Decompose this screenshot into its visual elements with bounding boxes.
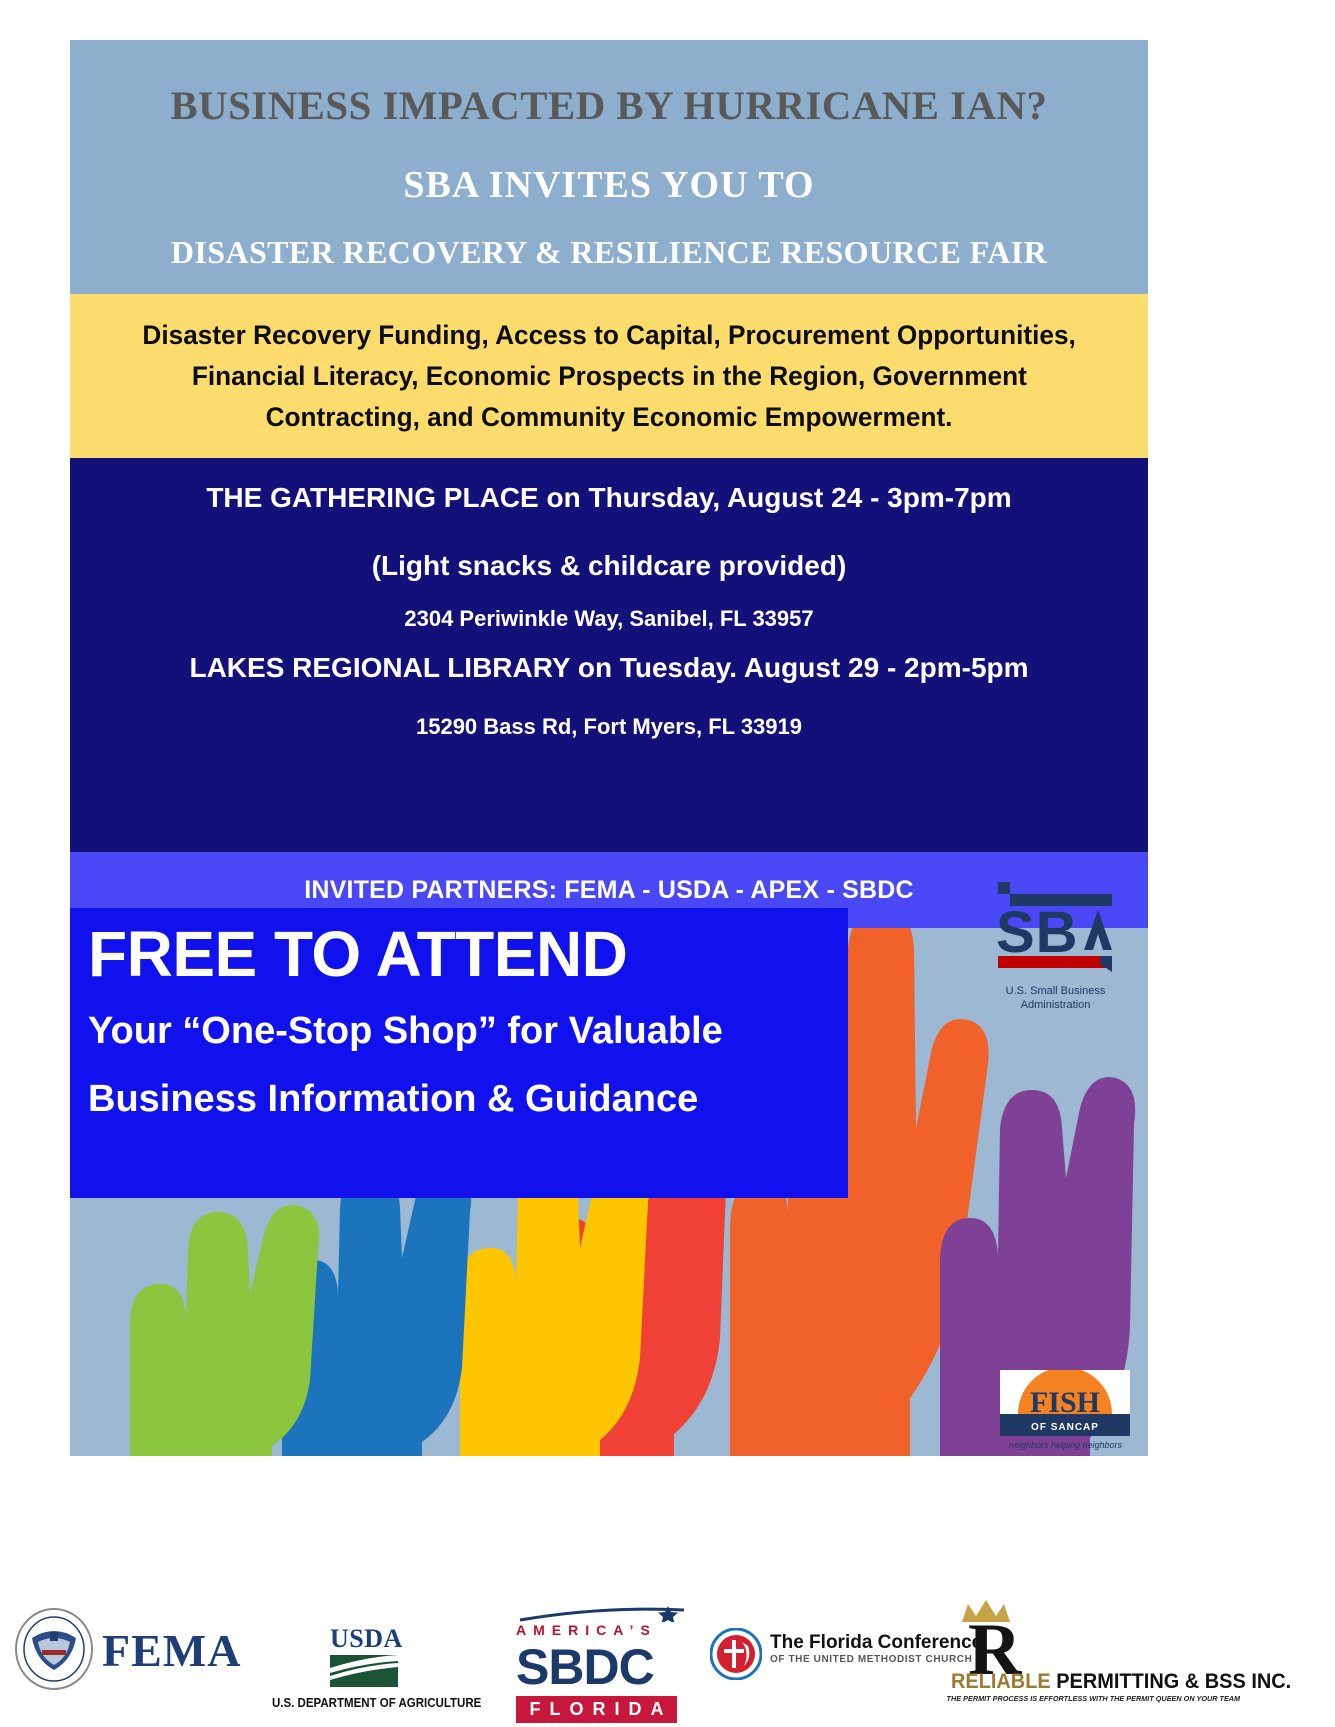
event-2-address: 15290 Bass Rd, Fort Myers, FL 33919 [70, 714, 1148, 740]
sponsor-logo-strip: FEMA USDA U.S. DEPARTMENT OF AGRICULTURE… [0, 1600, 1335, 1727]
sbdc-americas-text: AMERICA’S [516, 1622, 677, 1638]
fema-wordmark: FEMA [102, 1624, 241, 1677]
invited-partners-text: INVITED PARTNERS: FEMA - USDA - APEX - S… [304, 876, 914, 905]
united-methodist-cross-flame-icon [710, 1628, 762, 1680]
event-1-address: 2304 Periwinkle Way, Sanibel, FL 33957 [70, 606, 1148, 632]
sba-logo-caption: U.S. Small Business Administration [978, 985, 1133, 1013]
sba-caption-line-1: U.S. Small Business [978, 985, 1133, 999]
free-to-attend-headline: FREE TO ATTEND [88, 922, 848, 986]
sbdc-wordmark: SBDC [516, 1638, 677, 1696]
sba-caption-line-2: Administration [978, 999, 1133, 1013]
crowned-r-icon: R [948, 1598, 1058, 1680]
event-2-title: LAKES REGIONAL LIBRARY on Tuesday. Augus… [70, 652, 1148, 684]
fish-logo-tagline: neighbors helping neighbors [988, 1440, 1143, 1450]
svg-text:OF SANCAP: OF SANCAP [1031, 1422, 1099, 1433]
headline-event-name: DISASTER RECOVERY & RESILIENCE RESOURCE … [171, 234, 1047, 271]
business-info-line: Business Information & Guidance [88, 1080, 848, 1118]
sponsor-sbdc: AMERICA’S SBDC FLORIDA [516, 1610, 677, 1723]
topics-line-3: Contracting, and Community Economic Empo… [266, 404, 953, 431]
sba-logo: SB [978, 860, 1133, 990]
headline-question: BUSINESS IMPACTED BY HURRICANE IAN? [170, 82, 1047, 129]
svg-text:SB: SB [996, 900, 1079, 965]
sbdc-swoosh-icon [516, 1606, 688, 1622]
usda-field-icon [330, 1655, 398, 1687]
sba-logo-svg: SB [978, 860, 1133, 990]
events-banner: THE GATHERING PLACE on Thursday, August … [70, 458, 1148, 852]
event-1-note: (Light snacks & childcare provided) [70, 550, 1148, 582]
reliable-permitting-tagline: THE PERMIT PROCESS IS EFFORTLESS WITH TH… [947, 1694, 1241, 1703]
one-stop-shop-line: Your “One-Stop Shop” for Valuable [88, 1012, 848, 1050]
topics-line-1: Disaster Recovery Funding, Access to Cap… [142, 322, 1075, 349]
permitting-bss-word: PERMITTING & BSS INC. [1051, 1670, 1292, 1693]
usda-subtitle: U.S. DEPARTMENT OF AGRICULTURE [272, 1696, 456, 1710]
reliable-word: RELIABLE [951, 1670, 1051, 1693]
headline-invite: SBA INVITES YOU TO [403, 163, 814, 207]
reliable-permitting-wordmark: RELIABLE PERMITTING & BSS INC. [951, 1670, 1291, 1694]
sponsor-fema: FEMA [14, 1608, 94, 1695]
svg-text:FISH: FISH [1030, 1386, 1100, 1419]
header-banner: BUSINESS IMPACTED BY HURRICANE IAN? SBA … [70, 40, 1148, 294]
topics-line-2: Financial Literacy, Economic Prospects i… [192, 363, 1027, 390]
dhs-seal-icon [14, 1608, 94, 1690]
flyer-page: BUSINESS IMPACTED BY HURRICANE IAN? SBA … [0, 0, 1335, 1727]
sponsor-usda: USDA U.S. DEPARTMENT OF AGRICULTURE [330, 1624, 403, 1687]
free-to-attend-box: FREE TO ATTEND Your “One-Stop Shop” for … [70, 908, 848, 1198]
sbdc-florida-text: FLORIDA [516, 1696, 677, 1723]
event-1-title: THE GATHERING PLACE on Thursday, August … [70, 482, 1148, 514]
topics-banner: Disaster Recovery Funding, Access to Cap… [70, 294, 1148, 458]
usda-wordmark: USDA [330, 1624, 403, 1654]
